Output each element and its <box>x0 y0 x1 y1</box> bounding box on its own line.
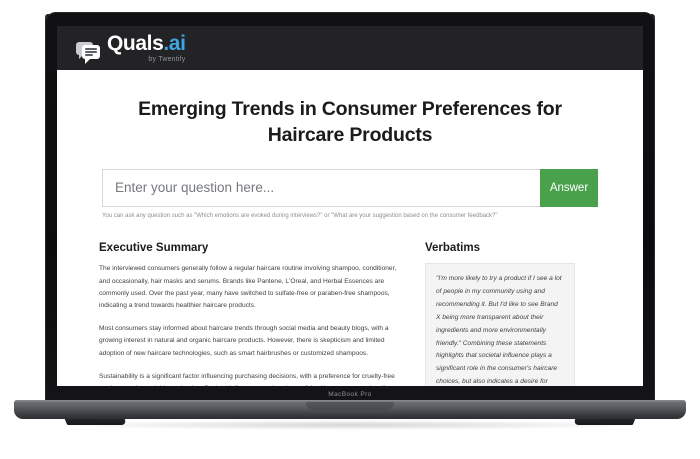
summary-paragraph: Sustainability is a significant factor i… <box>99 371 399 386</box>
verbatims-column: Verbatims "I'm more likely to try a prod… <box>425 242 575 386</box>
laptop-base <box>14 400 686 419</box>
answer-button[interactable]: Answer <box>540 169 598 207</box>
report-content: Executive Summary The interviewed consum… <box>99 242 601 386</box>
search-hint-text: You can ask any question such as "Which … <box>102 213 598 221</box>
verbatim-quote-card: "I'm more likely to try a product if I s… <box>425 263 575 386</box>
question-search-row: Answer <box>102 169 598 207</box>
page-body: Emerging Trends in Consumer Preferences … <box>57 70 643 386</box>
executive-summary-heading: Executive Summary <box>99 242 399 254</box>
page-title: Emerging Trends in Consumer Preferences … <box>57 70 643 149</box>
logo-main-text: Quals <box>107 32 163 55</box>
summary-paragraph: Most consumers stay informed about hairc… <box>99 323 399 360</box>
question-input[interactable] <box>102 169 540 207</box>
speech-bubble-icon <box>75 41 101 63</box>
macbook-model-label: MacBook Pro <box>0 391 700 398</box>
laptop-screen: Quals.ai by Twentify Emerging Trends in … <box>57 26 643 386</box>
verbatims-heading: Verbatims <box>425 242 575 254</box>
laptop-lid: Quals.ai by Twentify Emerging Trends in … <box>45 12 655 402</box>
app-logo[interactable]: Quals.ai by Twentify <box>75 33 186 63</box>
summary-paragraph: The interviewed consumers generally foll… <box>99 263 399 312</box>
laptop-shadow <box>60 420 640 430</box>
laptop-mockup-scene: Quals.ai by Twentify Emerging Trends in … <box>0 0 700 459</box>
executive-summary-column: Executive Summary The interviewed consum… <box>99 242 399 386</box>
logo-accent-text: .ai <box>163 32 185 55</box>
logo-wordmark: Quals.ai <box>107 33 186 54</box>
logo-text-block: Quals.ai by Twentify <box>107 33 186 63</box>
laptop-base-notch <box>306 402 394 410</box>
app-header: Quals.ai by Twentify <box>57 26 643 70</box>
logo-subtitle: by Twentify <box>148 56 185 63</box>
